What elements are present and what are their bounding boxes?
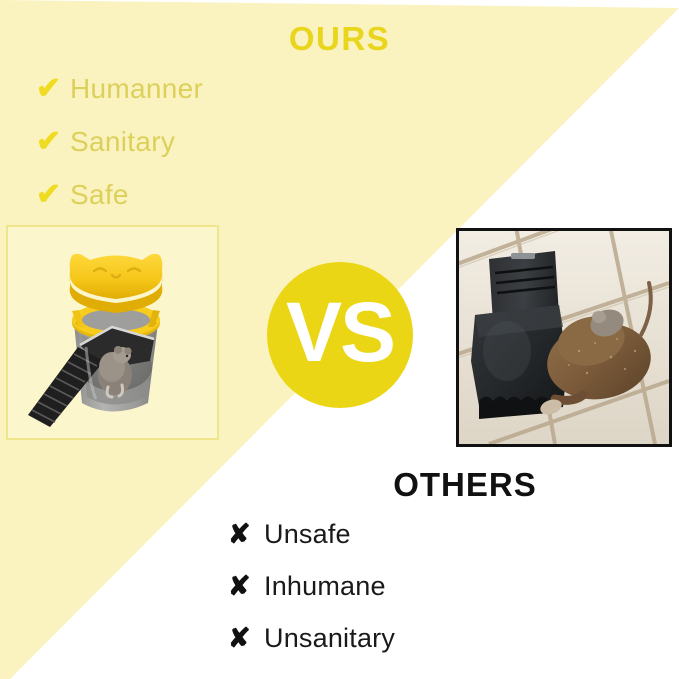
versus-label: VS [286,290,394,374]
others-feature-label: Unsanitary [264,623,395,654]
black-snap-trap-dead-rat-photo [456,228,672,447]
list-item: ✔ Humanner [36,62,296,115]
others-feature-list: ✘ Unsafe ✘ Inhumane ✘ Unsanitary [228,508,558,664]
check-icon: ✔ [36,127,70,157]
others-feature-label: Inhumane [264,571,386,602]
list-item: ✔ Sanitary [36,115,296,168]
snap-trap-rat-illustration [459,231,669,444]
ours-feature-label: Sanitary [70,126,175,158]
versus-badge: VS [267,262,413,408]
list-item: ✘ Unsafe [228,508,558,560]
check-icon: ✔ [36,74,70,104]
humane-bucket-mouse-trap-photo [6,225,219,440]
ours-title: OURS [0,20,679,58]
x-icon: ✘ [228,625,264,652]
list-item: ✘ Inhumane [228,560,558,612]
others-title: OTHERS [352,466,578,504]
list-item: ✔ Safe [36,168,296,221]
cat-face-lid-icon [70,254,163,313]
ours-feature-label: Humanner [70,73,203,105]
check-icon: ✔ [36,180,70,210]
x-icon: ✘ [228,573,264,600]
comparison-infographic: OURS ✔ Humanner ✔ Sanitary ✔ Safe [0,0,679,679]
ours-feature-label: Safe [70,179,129,211]
bucket-trap-illustration [8,227,217,438]
ours-feature-list: ✔ Humanner ✔ Sanitary ✔ Safe [36,62,296,221]
x-icon: ✘ [228,521,264,548]
list-item: ✘ Unsanitary [228,612,558,664]
others-feature-label: Unsafe [264,519,351,550]
